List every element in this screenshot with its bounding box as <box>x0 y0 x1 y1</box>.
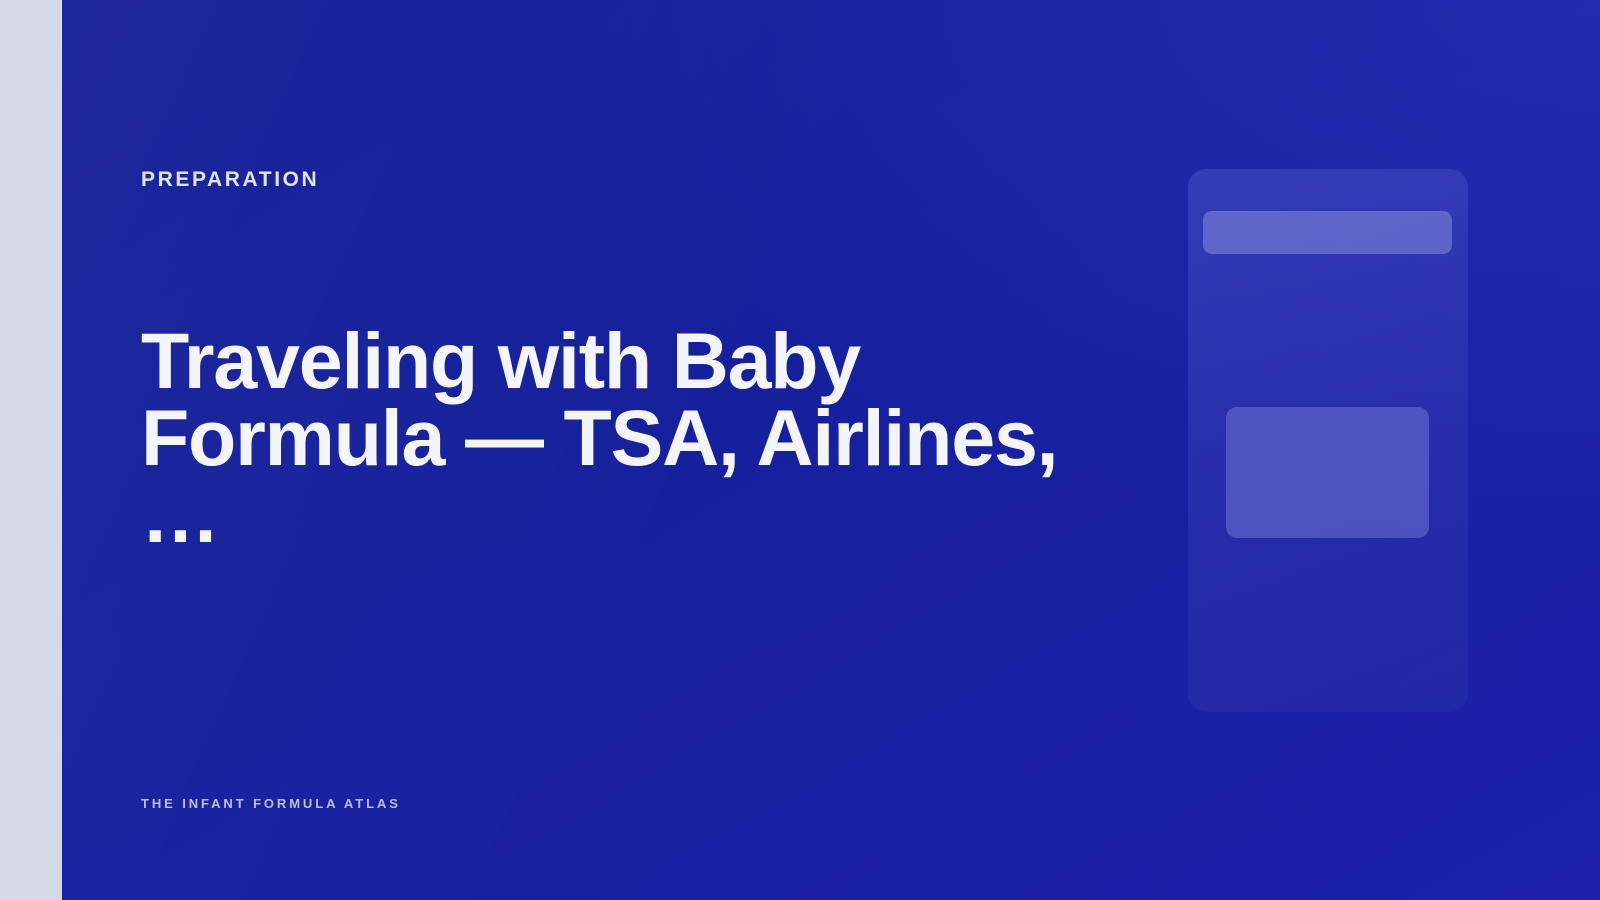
slide-title-line-1: Traveling with Baby <box>141 316 860 405</box>
left-accent-rail <box>0 0 62 900</box>
panel-placeholder-bar <box>1203 211 1452 254</box>
panel-placeholder-thumbnail <box>1226 407 1429 538</box>
slide-title: Traveling with Baby Formula — TSA, Airli… <box>141 322 1131 553</box>
decorative-panel <box>1188 169 1468 712</box>
slide-footer-brand: THE INFANT FORMULA ATLAS <box>141 796 401 811</box>
slide-title-line-2: Formula — TSA, Airlines, … <box>141 393 1057 559</box>
slide-eyebrow-label: PREPARATION <box>141 168 319 192</box>
title-slide: PREPARATION Traveling with Baby Formula … <box>0 0 1600 900</box>
slide-content: PREPARATION Traveling with Baby Formula … <box>141 0 1141 900</box>
